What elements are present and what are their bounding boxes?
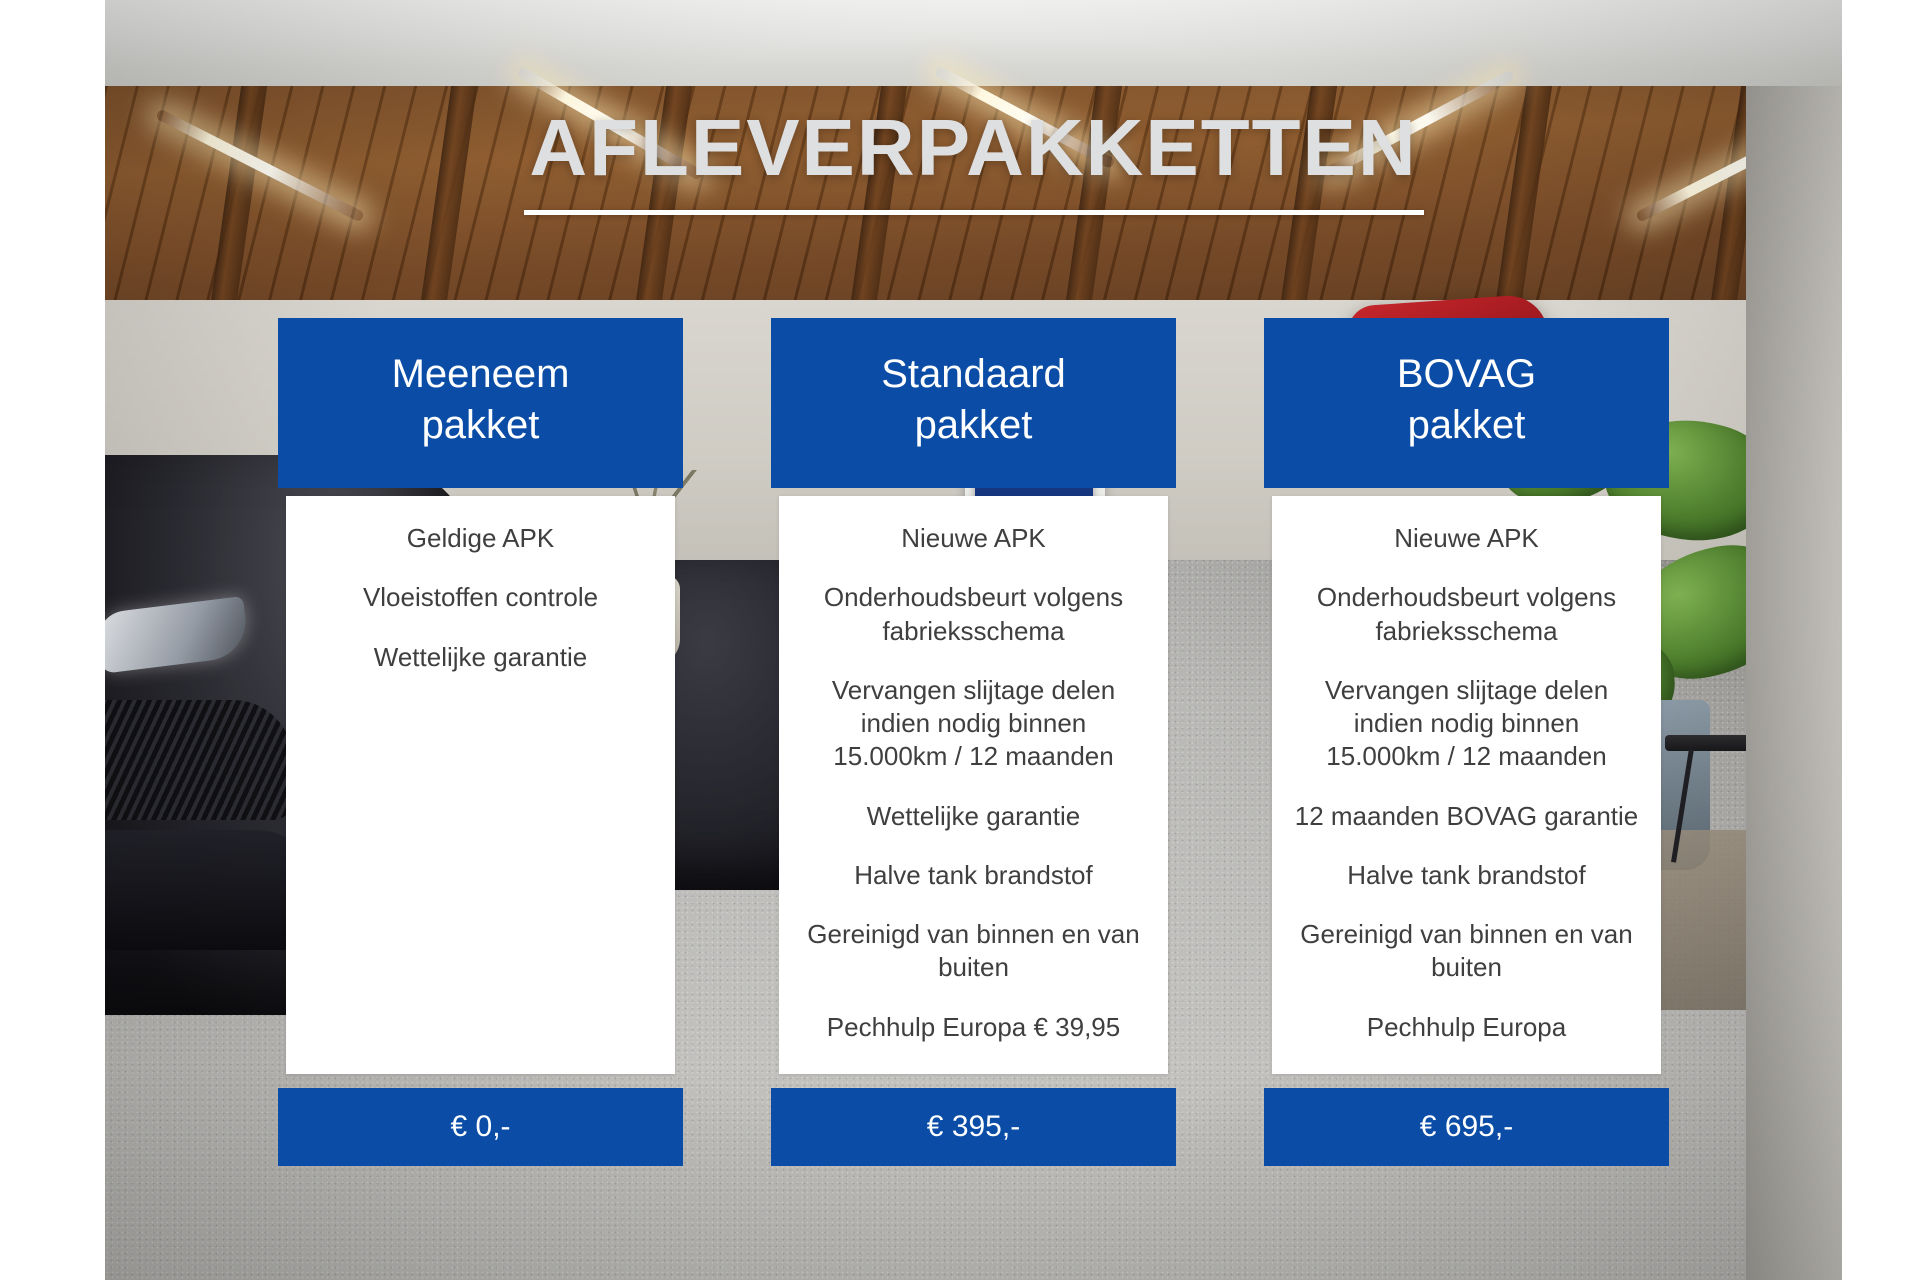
- package-card-standaard[interactable]: Standaard pakket Nieuwe APK Onderhoudsbe…: [771, 318, 1176, 1166]
- card-feature-list: Nieuwe APK Onderhoudsbeurt volgens fabri…: [779, 496, 1168, 1074]
- feature-item: Vervangen slijtage delen indien nodig bi…: [801, 674, 1146, 774]
- ceiling-soffit: [105, 0, 1842, 92]
- card-title-line1: Standaard: [881, 349, 1066, 400]
- card-header: BOVAG pakket: [1264, 318, 1669, 488]
- title-block: AFLEVERPAKKETTEN: [105, 108, 1842, 215]
- feature-item: Wettelijke garantie: [801, 800, 1146, 833]
- package-card-meeneem[interactable]: Meeneem pakket Geldige APK Vloeistoffen …: [278, 318, 683, 1166]
- title-underline: [524, 210, 1424, 215]
- slide-canvas: AFLEVERPAKKETTEN Meeneem pakket Geldige …: [0, 0, 1920, 1280]
- card-header: Meeneem pakket: [278, 318, 683, 488]
- feature-item: Gereinigd van binnen en van buiten: [801, 918, 1146, 985]
- feature-item: Pechhulp Europa: [1294, 1011, 1639, 1044]
- card-title-line2: pakket: [881, 400, 1066, 451]
- card-price[interactable]: € 395,-: [771, 1088, 1176, 1166]
- feature-item: Gereinigd van binnen en van buiten: [1294, 918, 1639, 985]
- card-title-line1: Meeneem: [392, 349, 570, 400]
- card-feature-list: Geldige APK Vloeistoffen controle Wettel…: [286, 496, 675, 1074]
- package-card-bovag[interactable]: BOVAG pakket Nieuwe APK Onderhoudsbeurt …: [1264, 318, 1669, 1166]
- feature-item: Vloeistoffen controle: [308, 581, 653, 614]
- card-title-line2: pakket: [1397, 400, 1536, 451]
- card-price[interactable]: € 0,-: [278, 1088, 683, 1166]
- card-title-line2: pakket: [392, 400, 570, 451]
- card-header: Standaard pakket: [771, 318, 1176, 488]
- feature-item: Nieuwe APK: [801, 522, 1146, 555]
- card-title-line1: BOVAG: [1397, 349, 1536, 400]
- package-cards: Meeneem pakket Geldige APK Vloeistoffen …: [105, 318, 1842, 1166]
- card-price[interactable]: € 695,-: [1264, 1088, 1669, 1166]
- feature-item: Onderhoudsbeurt volgens fabrieksschema: [801, 581, 1146, 648]
- feature-item: Halve tank brandstof: [801, 859, 1146, 892]
- feature-item: Nieuwe APK: [1294, 522, 1639, 555]
- feature-item: Wettelijke garantie: [308, 641, 653, 674]
- feature-item: 12 maanden BOVAG garantie: [1294, 800, 1639, 833]
- feature-item: Halve tank brandstof: [1294, 859, 1639, 892]
- feature-item: Geldige APK: [308, 522, 653, 555]
- feature-item: Pechhulp Europa € 39,95: [801, 1011, 1146, 1044]
- feature-item: Vervangen slijtage delen indien nodig bi…: [1294, 674, 1639, 774]
- page-title: AFLEVERPAKKETTEN: [105, 108, 1842, 188]
- feature-item: Onderhoudsbeurt volgens fabrieksschema: [1294, 581, 1639, 648]
- card-feature-list: Nieuwe APK Onderhoudsbeurt volgens fabri…: [1272, 496, 1661, 1074]
